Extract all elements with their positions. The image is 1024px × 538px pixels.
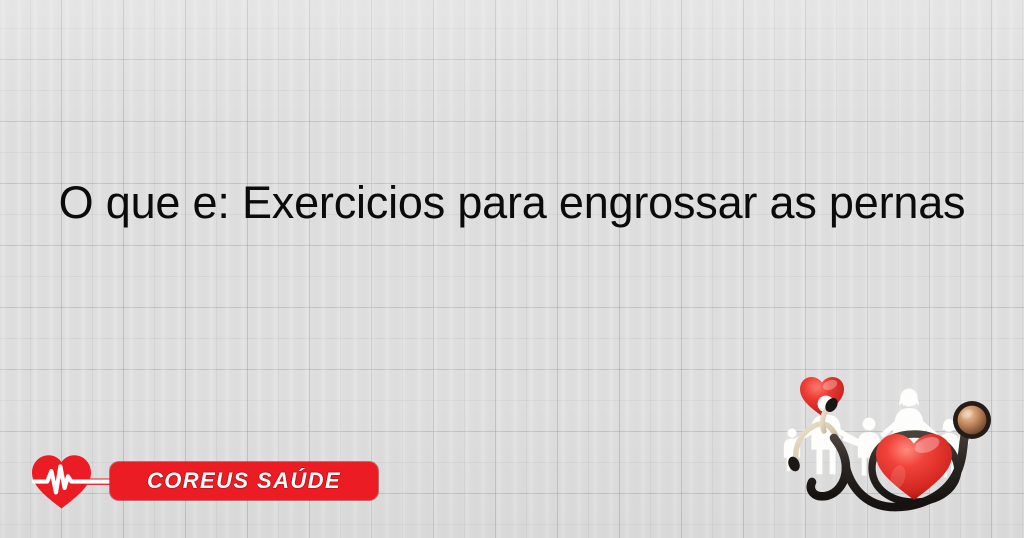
article-thumbnail-canvas: O que e: Exercicios para engrossar as pe… [0, 0, 1024, 538]
stethoscope-chest-piece-icon [953, 401, 991, 439]
brand-logo[interactable]: COREUS SAÚDE [30, 450, 355, 512]
health-care-illustration [772, 344, 1024, 538]
page-title: O que e: Exercicios para engrossar as pe… [18, 172, 1006, 234]
brand-name-text: COREUS SAÚDE [110, 462, 378, 500]
